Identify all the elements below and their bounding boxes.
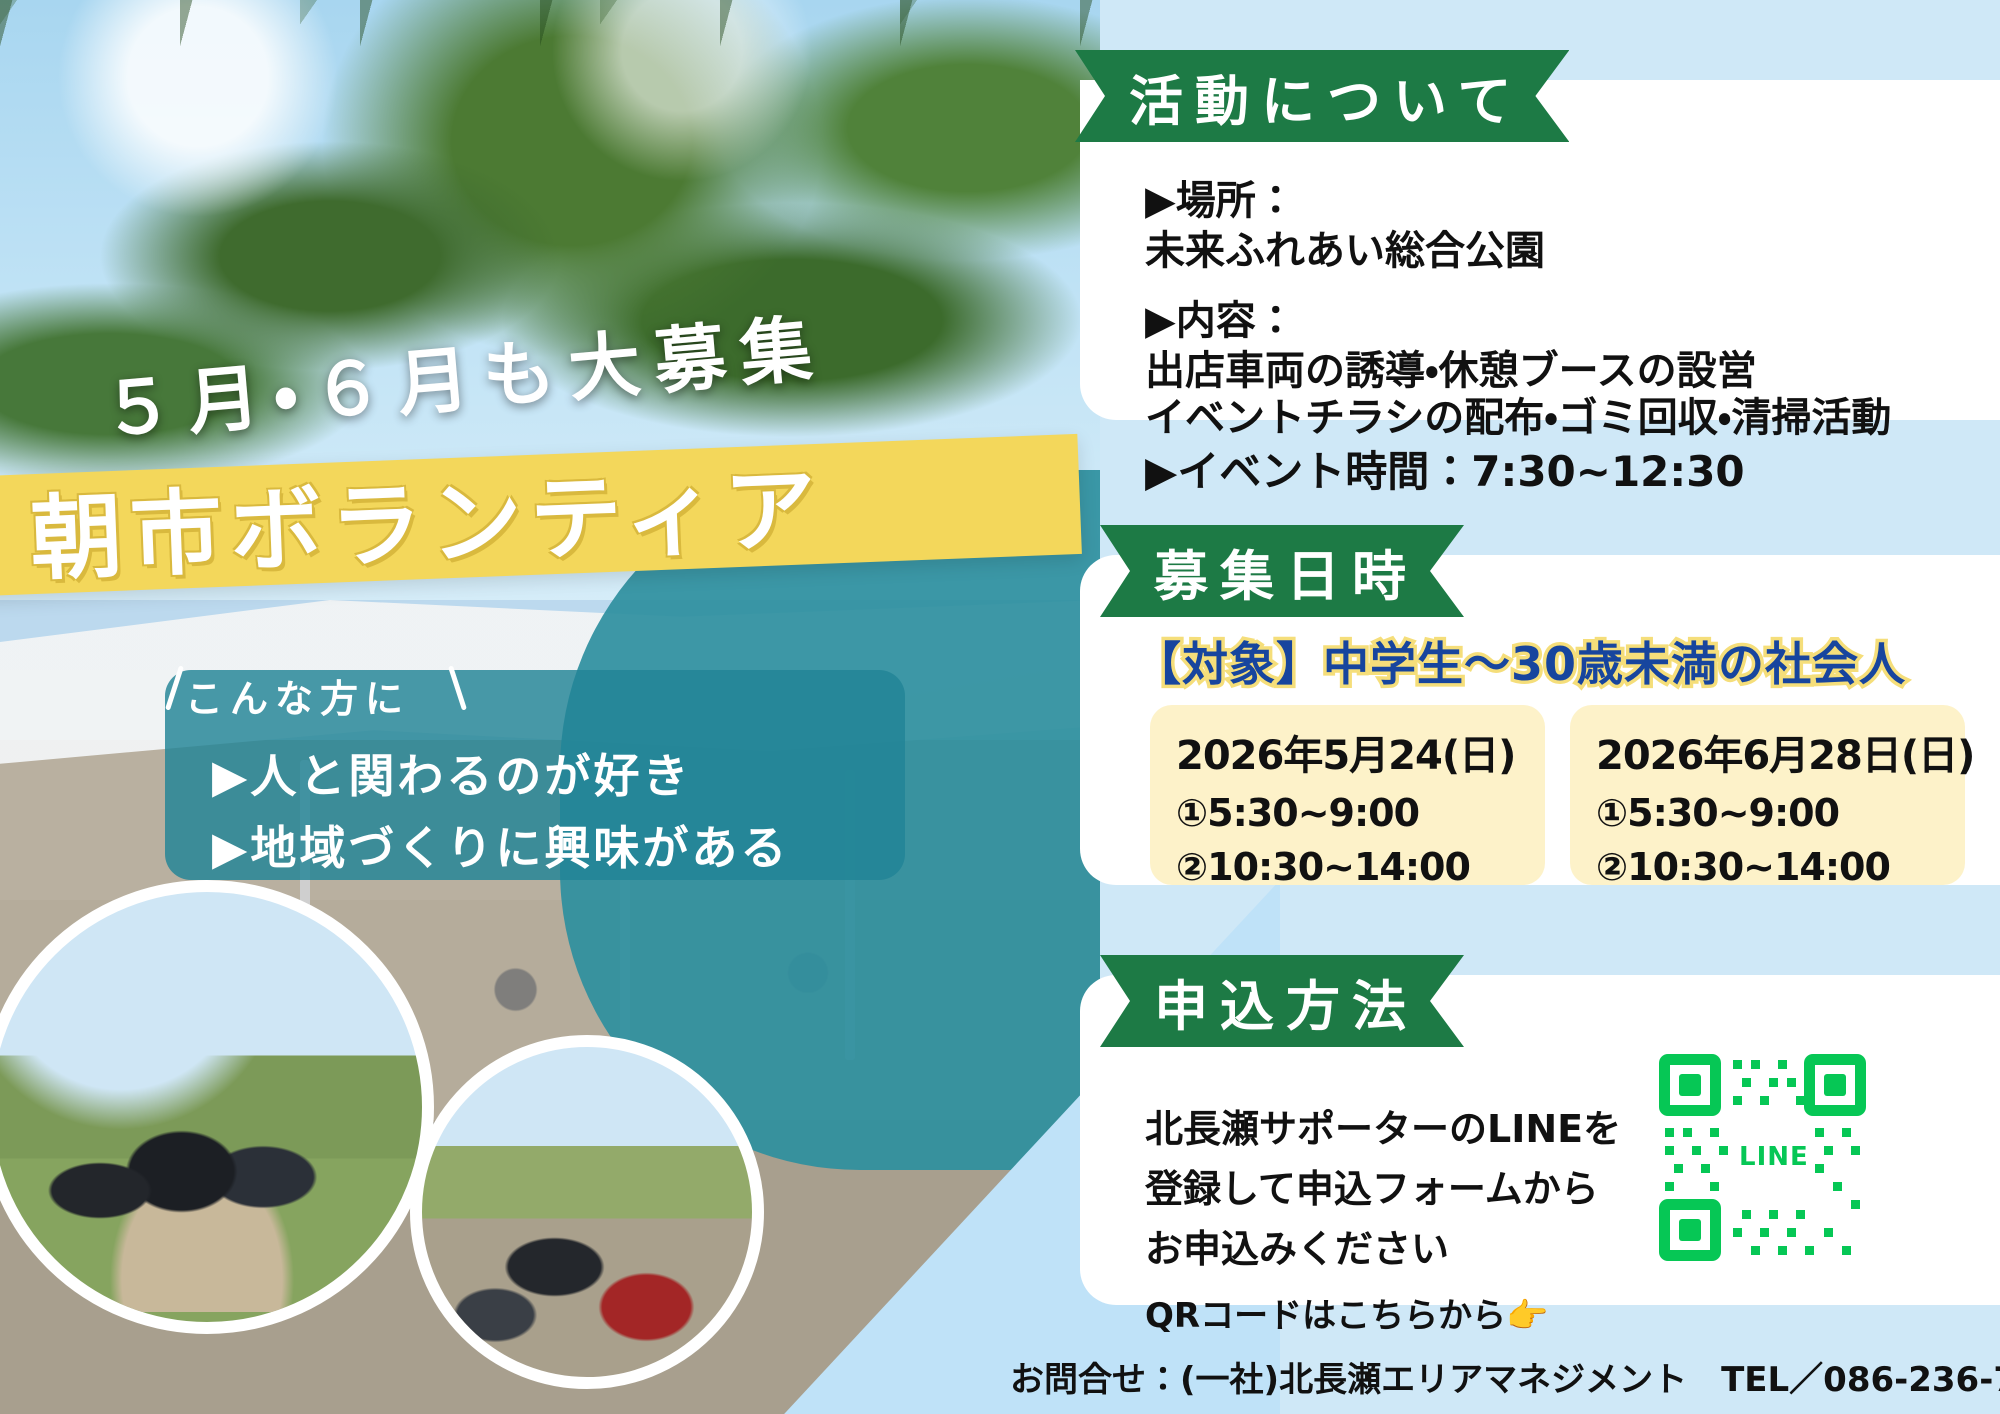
schedule-date-card-1: 2026年5月24(日) ①5:30~9:00 ②10:30~14:00 [1150,705,1545,885]
qr-line-brand-label: LINE [1733,1140,1815,1174]
volunteer-photo-circle-1 [0,880,434,1334]
activity-ribbon-heading: 活動について [1075,50,1569,142]
qr-finder-bottom-left [1659,1199,1721,1261]
qr-finder-top-right [1804,1054,1866,1116]
line-qr-code[interactable]: LINE [1655,1050,1870,1265]
date-card-2-date: 2026年6月28日(日) [1596,723,1965,781]
audience-item-2: ▶地域づくりに興味がある [212,812,789,878]
apply-instruction-line-2: 登録して申込フォームから [1145,1158,1599,1213]
activity-event-time: ▶イベント時間：7:30~12:30 [1145,438,1745,499]
volunteer-photo-circle-2 [410,1035,764,1389]
schedule-ribbon-heading: 募集日時 [1100,525,1464,617]
apply-ribbon-heading: 申込方法 [1100,955,1464,1047]
qr-note-text: QRコードはこちらから [1145,1296,1506,1336]
audience-item-1: ▶人と関わるのが好き [212,740,691,806]
qr-finder-top-left [1659,1054,1721,1116]
date-card-1-slot-2: ②10:30~14:00 [1176,845,1545,889]
activity-place-value: 未来ふれあい総合公園 [1145,218,1545,276]
qr-note-wrapper: QRコードはこちらから👉 [1145,1288,1548,1337]
audience-card-label: こんな方に [185,668,410,723]
schedule-target-line: 【対象】中学生〜30歳未満の社会人 [1135,628,1906,694]
date-card-2-slot-1: ①5:30~9:00 [1596,791,1965,835]
date-card-1-date: 2026年5月24(日) [1176,723,1545,781]
footer-contact: お問合せ：(一社)北長瀬エリアマネジメント TEL／086‑236‑7458 [1010,1352,2000,1401]
date-card-2-slot-2: ②10:30~14:00 [1596,845,1965,889]
schedule-date-card-2: 2026年6月28日(日) ①5:30~9:00 ②10:30~14:00 [1570,705,1965,885]
activity-content-line-2: イベントチラシの配布・ゴミ回収・清掃活動 [1145,385,1891,443]
pointing-hand-icon: 👉 [1506,1296,1548,1336]
poster-root: ５月・６月も大募集 朝市ボランティア こんな方に ▶人と関わるのが好き ▶地域づ… [0,0,2000,1414]
date-card-1-slot-1: ①5:30~9:00 [1176,791,1545,835]
apply-instruction-line-3: お申込みください [1145,1218,1449,1273]
apply-instruction-line-1: 北長瀬サポーターのLINEを [1145,1098,1621,1153]
